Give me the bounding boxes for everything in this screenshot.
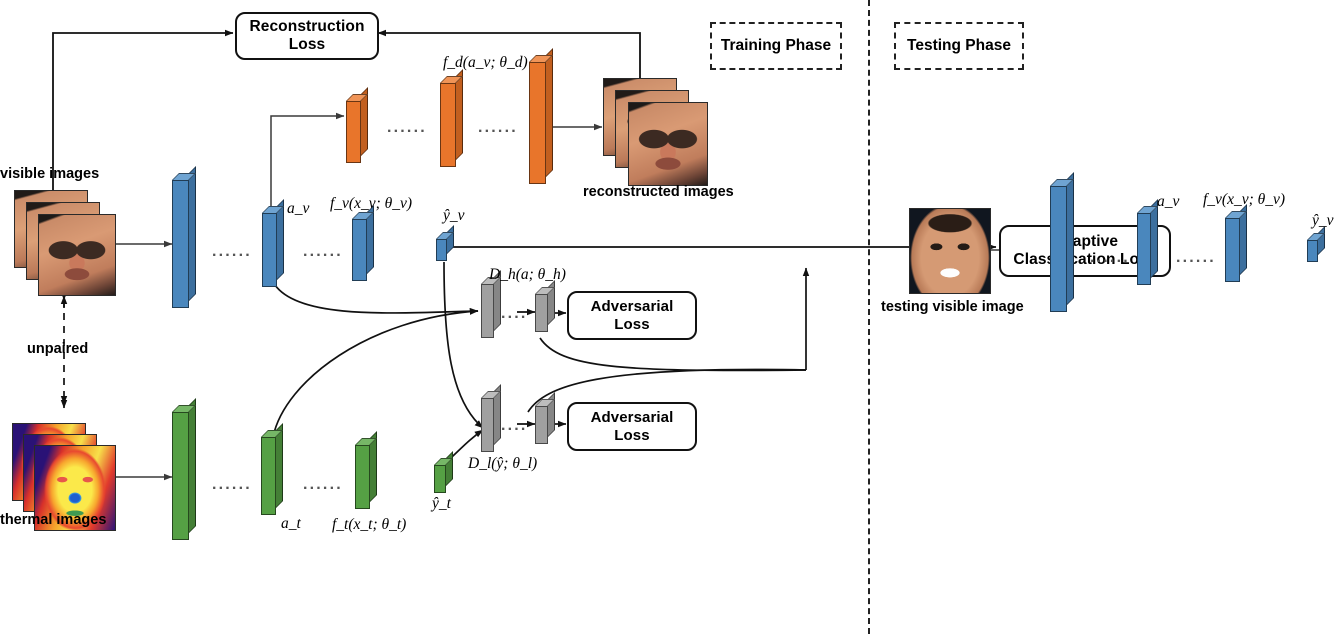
discriminator-high-bar-1 (481, 284, 494, 338)
testing-visible-image-label: testing visible image (881, 299, 1024, 315)
testing-feature-bar-fv (1225, 218, 1240, 282)
thermal-images-label: thermal images (0, 512, 106, 528)
visible-images-label: visible images (0, 166, 99, 182)
testing-visible-image-stack (909, 208, 991, 294)
discriminator-low-bar-1 (481, 398, 494, 452)
curve-av-to-dh (275, 285, 478, 313)
phase-divider (868, 0, 870, 634)
decoder-bar-2 (440, 83, 456, 167)
label-av-visible: a_v (287, 200, 309, 218)
adversarial-high-line2: Loss (591, 316, 674, 334)
label-yv-visible-prediction: ŷ_v (443, 207, 465, 225)
testing-ellipsis-1: ...... (1090, 249, 1130, 267)
curve-yv-to-dl (444, 262, 483, 428)
phase-badge-training: Training Phase (710, 22, 842, 70)
thermal-latent-bar-at (261, 437, 276, 515)
adaptive-loss-line2: Classification Loss (1013, 251, 1156, 269)
phase-training-label: Training Phase (721, 37, 831, 55)
testing-output-bar-yv (1307, 240, 1318, 262)
reconstructed-images-label: reconstructed images (583, 184, 734, 200)
thermal-feature-bar-ft (355, 445, 370, 509)
decoder-bar-3 (529, 62, 546, 184)
adversarial-loss-high-box: Adversarial Loss (567, 291, 697, 340)
label-fv-testing-encoder: f_v(x_v; θ_v) (1203, 191, 1285, 209)
discriminator-high-ellipsis: .... (501, 305, 528, 323)
adaptive-loss-line1: Adaptive (1013, 233, 1156, 251)
reconstructed-images-stack (603, 78, 715, 190)
label-yt-thermal-prediction: ŷ_t (432, 495, 451, 513)
decoder-ellipsis-2: ...... (478, 119, 518, 137)
visible-feature-bar-fv (352, 219, 367, 281)
phase-testing-label: Testing Phase (907, 37, 1011, 55)
reconstructed-image-front (628, 102, 708, 186)
label-dl-discriminator-low: D_l(ŷ; θ_l) (468, 455, 537, 473)
label-fv-visible-encoder: f_v(x_v; θ_v) (330, 195, 412, 213)
label-yv-testing-prediction: ŷ_v (1312, 212, 1334, 230)
reconstruction-loss-box: Reconstruction Loss (235, 12, 379, 60)
testing-ellipsis-2: ...... (1176, 249, 1216, 267)
visible-latent-bar-av (262, 213, 277, 287)
discriminator-low-ellipsis: .... (501, 417, 528, 435)
visible-branch-ellipsis-2: ...... (303, 243, 343, 261)
testing-encoder-bar-1 (1050, 186, 1067, 312)
adversarial-low-line2: Loss (591, 427, 674, 445)
thermal-branch-ellipsis-2: ...... (303, 476, 343, 494)
testing-latent-bar-av (1137, 213, 1151, 285)
testing-visible-image (909, 208, 991, 294)
thermal-branch-ellipsis-1: ...... (212, 476, 252, 494)
reconstruction-loss-line1: Reconstruction (249, 18, 364, 36)
adversarial-high-line1: Adversarial (591, 298, 674, 316)
label-dh-discriminator-high: D_h(a; θ_h) (489, 266, 566, 284)
reconstruction-loss-line2: Loss (249, 36, 364, 54)
thermal-encoder-bar-1 (172, 412, 189, 540)
label-av-testing: a_v (1157, 193, 1179, 211)
thermal-output-bar-yt (434, 465, 446, 493)
phase-badge-testing: Testing Phase (894, 22, 1024, 70)
visible-output-bar-yv (436, 239, 447, 261)
decoder-bar-1 (346, 101, 361, 163)
unpaired-label: unpaired (27, 341, 88, 357)
label-at-thermal: a_t (281, 515, 301, 533)
discriminator-high-bar-2 (535, 294, 548, 332)
diagram-canvas: Training Phase Testing Phase Reconstruct… (0, 0, 1337, 634)
visible-branch-ellipsis-1: ...... (212, 243, 252, 261)
visible-encoder-bar-1 (172, 180, 189, 308)
curve-dh-feature-to-adaptive (540, 338, 806, 370)
visible-images-stack (14, 190, 114, 296)
label-fd-decoder: f_d(a_v; θ_d) (443, 54, 528, 72)
discriminator-low-bar-2 (535, 406, 548, 444)
adversarial-loss-low-box: Adversarial Loss (567, 402, 697, 451)
decoder-ellipsis-1: ...... (387, 119, 427, 137)
adversarial-low-line1: Adversarial (591, 409, 674, 427)
visible-image-front (38, 214, 116, 296)
label-ft-thermal-encoder: f_t(x_t; θ_t) (332, 516, 406, 534)
